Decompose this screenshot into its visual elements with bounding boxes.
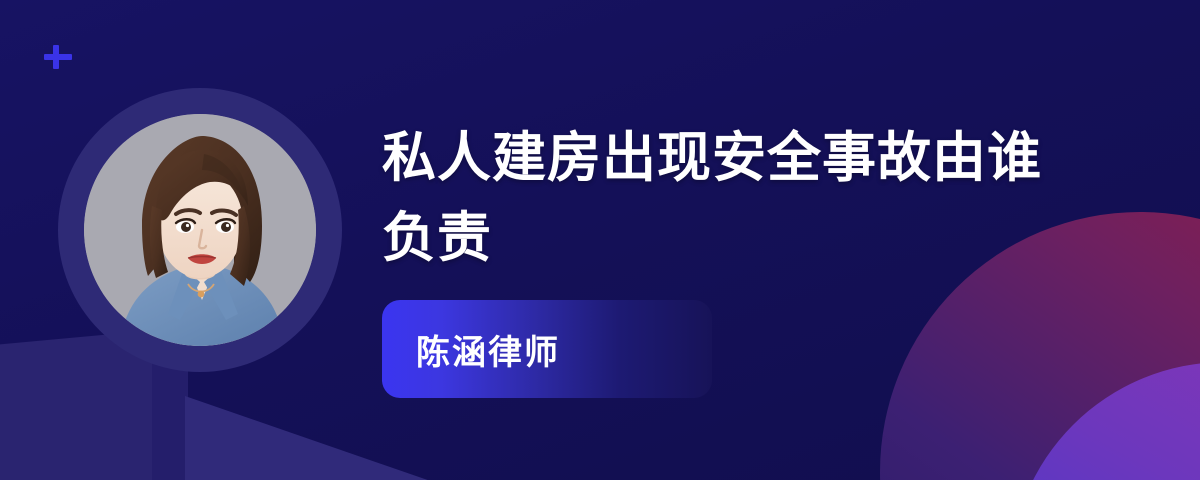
decorative-slab-left-lower [0,352,160,480]
avatar [84,114,316,346]
text-content: 私人建房出现安全事故由谁负责 陈涵律师 [382,118,1082,398]
page-title: 私人建房出现安全事故由谁负责 [382,118,1042,278]
plus-icon [42,41,74,73]
plus-icon-bar-vertical [53,45,59,69]
lawyer-name-pill[interactable]: 陈涵律师 [382,300,712,398]
avatar-ring [58,88,342,372]
lawyer-topic-banner: 私人建房出现安全事故由谁负责 陈涵律师 [0,0,1200,480]
